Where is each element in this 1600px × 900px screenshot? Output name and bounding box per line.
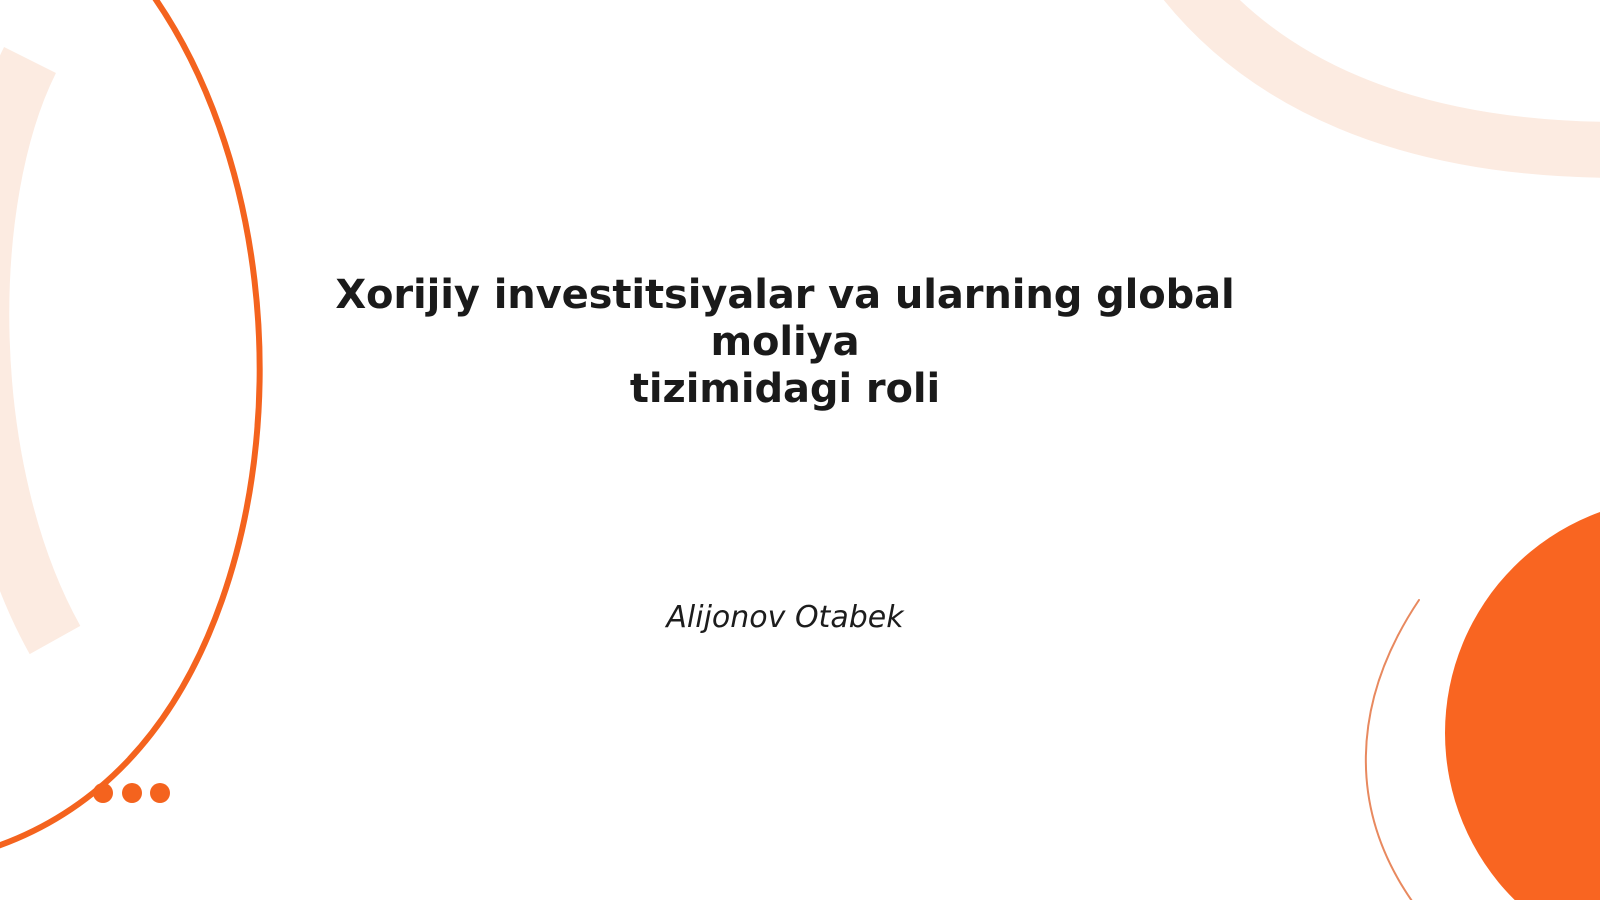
slide-content: Xorijiy investitsiyalar va ularning glob… [0,0,1600,900]
author-name: Alijonov Otabek [290,600,1280,636]
author-block: Alijonov Otabek [290,600,1280,636]
title-block: Xorijiy investitsiyalar va ularning glob… [290,272,1280,412]
title-slide: Xorijiy investitsiyalar va ularning glob… [0,0,1600,900]
page-title: Xorijiy investitsiyalar va ularning glob… [290,272,1280,412]
